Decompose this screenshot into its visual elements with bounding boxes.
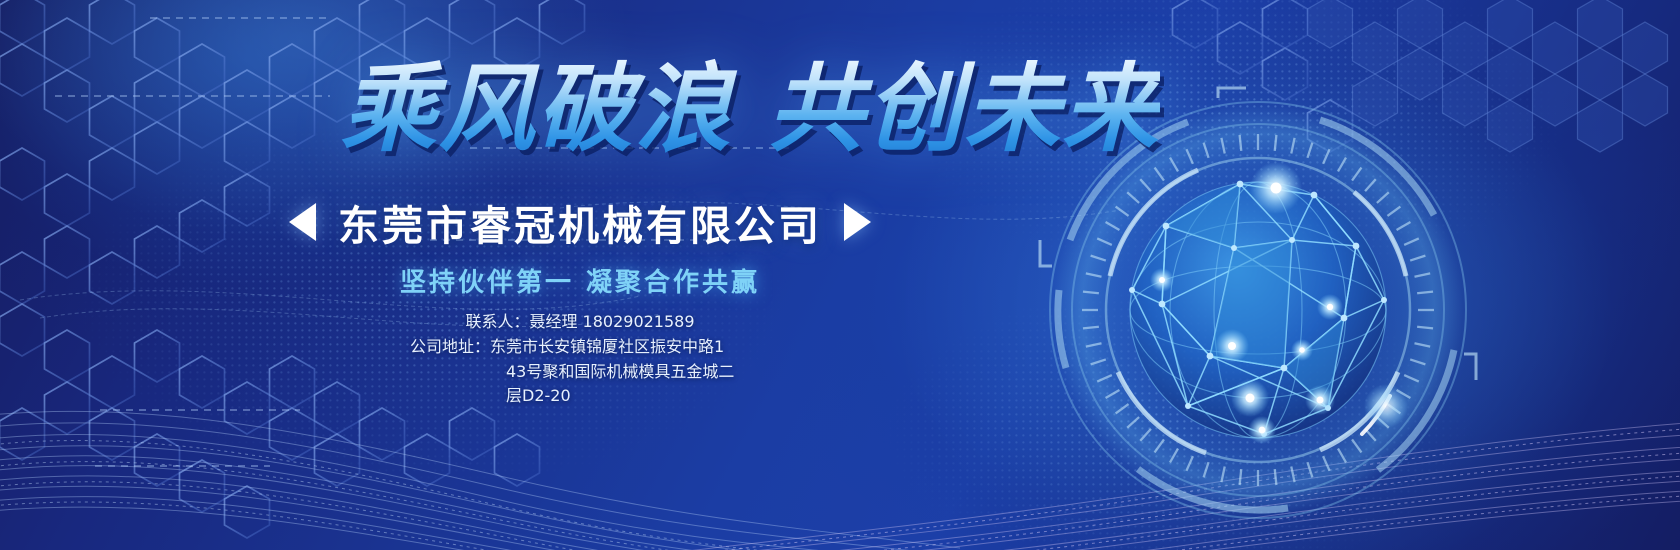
right-triangle-icon xyxy=(844,203,871,241)
promotional-banner: 乘风破浪 共创未来 东莞市睿冠机械有限公司 坚持伙伴第一 凝聚合作共赢 联系人：… xyxy=(0,0,1680,550)
company-name: 东莞市睿冠机械有限公司 xyxy=(338,192,822,252)
contact-person-line: 联系人：聂经理 18029021589 xyxy=(0,310,1160,335)
left-triangle-icon xyxy=(289,203,316,241)
main-title-container: 乘风破浪 共创未来 xyxy=(0,58,1190,162)
address-line-2: 43号聚和国际机械模具五金城二 xyxy=(410,360,750,385)
tagline: 坚持伙伴第一 凝聚合作共赢 xyxy=(0,262,1190,299)
company-address: 公司地址：东莞市长安镇锦厦社区振安中路1 43号聚和国际机械模具五金城二 层D2… xyxy=(410,335,750,409)
address-line-1: 公司地址：东莞市长安镇锦厦社区振安中路1 xyxy=(410,335,750,360)
page-title: 乘风破浪 共创未来 xyxy=(341,58,1160,162)
contact-block: 联系人：聂经理 18029021589 公司地址：东莞市长安镇锦厦社区振安中路1… xyxy=(0,310,1190,409)
address-line-3: 层D2-20 xyxy=(410,384,750,409)
company-name-row: 东莞市睿冠机械有限公司 xyxy=(0,192,1190,252)
